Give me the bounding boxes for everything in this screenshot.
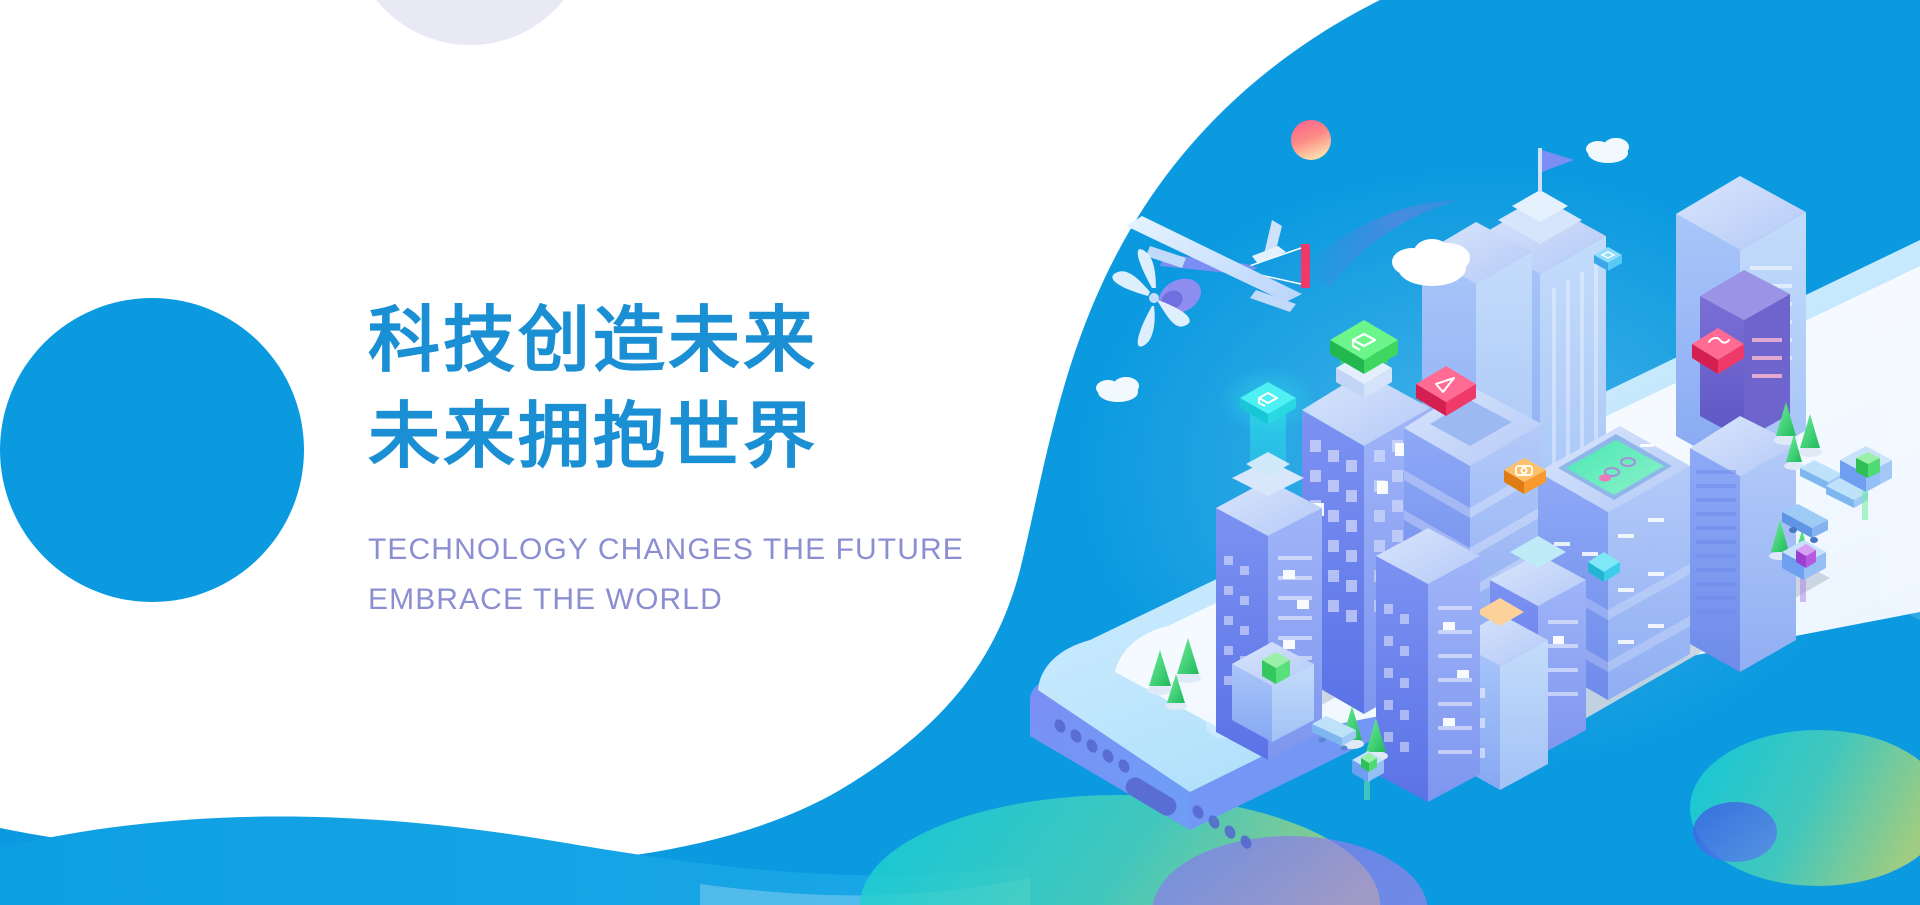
right-edge-haze (1880, 280, 1920, 620)
flag (1542, 150, 1574, 172)
cloud-medium (1586, 138, 1629, 163)
hero-text-block: 科技创造未来 未来拥抱世界 TECHNOLOGY CHANGES THE FUT… (368, 292, 1068, 622)
marker-cube-green-small (1352, 751, 1384, 800)
plane-banner (1301, 244, 1310, 288)
subtitle-line-2: EMBRACE THE WORLD (368, 577, 1068, 623)
hero-banner: 科技创造未来 未来拥抱世界 TECHNOLOGY CHANGES THE FUT… (0, 0, 1920, 905)
headline-line-2: 未来拥抱世界 (368, 388, 1068, 484)
building-front-left-dark (1376, 528, 1480, 802)
headline-line-1: 科技创造未来 (368, 292, 1068, 388)
beacon-chip-cyan-chat (1218, 366, 1318, 434)
antenna (1538, 148, 1542, 192)
subtitle-line-1: TECHNOLOGY CHANGES THE FUTURE (368, 527, 1068, 573)
pool-float (1599, 475, 1611, 482)
